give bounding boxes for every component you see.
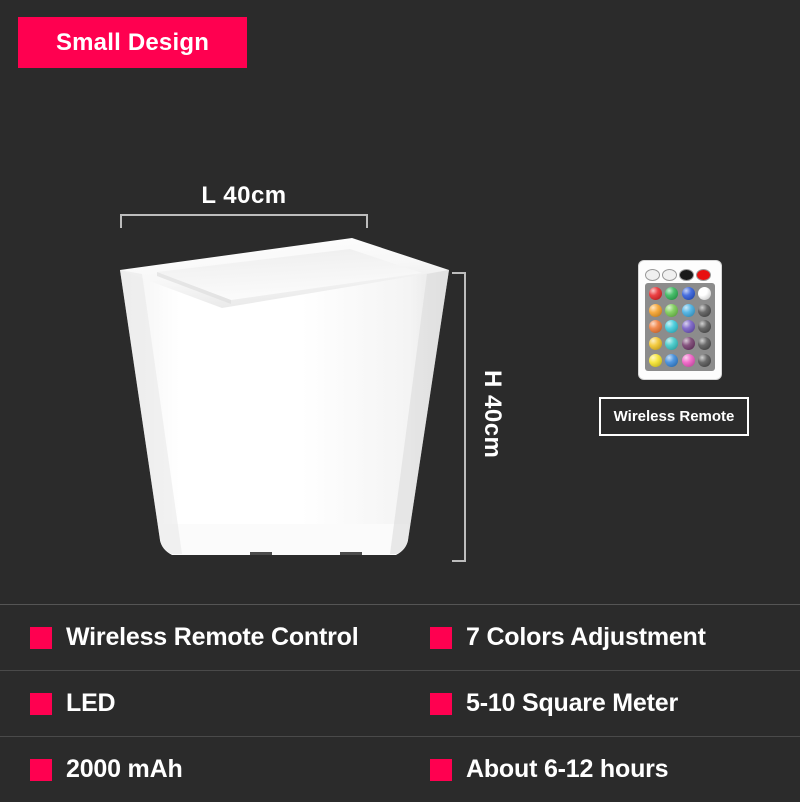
color-button-green (665, 287, 678, 300)
brightness-up-button (645, 269, 660, 281)
color-button-turquoise (665, 337, 678, 350)
feature-label: LED (66, 689, 115, 718)
feature-row: LED 5-10 Square Meter (0, 670, 800, 736)
infographic-canvas: Small Design L 40cm (0, 0, 800, 800)
remote-color-grid (647, 285, 713, 369)
color-button-flash (698, 337, 711, 350)
feature-item-7-colors-adjustment: 7 Colors Adjustment (430, 605, 800, 670)
color-button-azure (665, 354, 678, 367)
height-dimension-bracket (452, 272, 466, 562)
feature-row: 2000 mAh About 6-12 hours (0, 736, 800, 802)
remote-color-panel (645, 283, 715, 371)
remote-control-image (639, 261, 721, 379)
bullet-square-icon (430, 693, 452, 715)
color-button-red (649, 287, 662, 300)
color-button-white (698, 287, 711, 300)
feature-item-coverage-area: 5-10 Square Meter (430, 671, 800, 736)
feature-label: Wireless Remote Control (66, 623, 358, 652)
bullet-square-icon (30, 627, 52, 649)
feature-label: 7 Colors Adjustment (466, 623, 706, 652)
color-button-magenta (682, 354, 695, 367)
feature-item-wireless-remote-control: Wireless Remote Control (0, 605, 430, 670)
color-button-smooth (698, 320, 711, 333)
product-image-planter (112, 224, 457, 564)
remote-top-button-row (645, 268, 715, 281)
color-button-purple (682, 320, 695, 333)
brightness-down-button (662, 269, 677, 281)
color-button-blue (682, 287, 695, 300)
width-dimension-label: L 40cm (120, 182, 368, 210)
feature-row: Wireless Remote Control 7 Colors Adjustm… (0, 604, 800, 670)
bullet-square-icon (430, 627, 452, 649)
color-button-yellow (649, 354, 662, 367)
title-banner-label: Small Design (56, 29, 209, 57)
feature-item-led: LED (0, 671, 430, 736)
feature-label: 5-10 Square Meter (466, 689, 678, 718)
feature-label: About 6-12 hours (466, 755, 668, 784)
feature-item-runtime: About 6-12 hours (430, 737, 800, 802)
height-dimension-label: H 40cm (478, 370, 506, 458)
color-button-sky (682, 304, 695, 317)
color-button-dark-orange (649, 320, 662, 333)
bullet-square-icon (430, 759, 452, 781)
color-button-plum (682, 337, 695, 350)
color-button-strobe (698, 354, 711, 367)
remote-caption-box: Wireless Remote (599, 397, 749, 436)
power-off-button (679, 269, 694, 281)
power-on-button (696, 269, 711, 281)
title-banner: Small Design (18, 17, 247, 68)
feature-item-battery-capacity: 2000 mAh (0, 737, 430, 802)
color-button-orange (649, 304, 662, 317)
color-button-amber (649, 337, 662, 350)
remote-caption-label: Wireless Remote (614, 408, 735, 425)
color-button-fade (698, 304, 711, 317)
feature-list: Wireless Remote Control 7 Colors Adjustm… (0, 604, 800, 800)
color-button-cyan (665, 320, 678, 333)
feature-label: 2000 mAh (66, 755, 183, 784)
bullet-square-icon (30, 759, 52, 781)
bullet-square-icon (30, 693, 52, 715)
color-button-lime (665, 304, 678, 317)
